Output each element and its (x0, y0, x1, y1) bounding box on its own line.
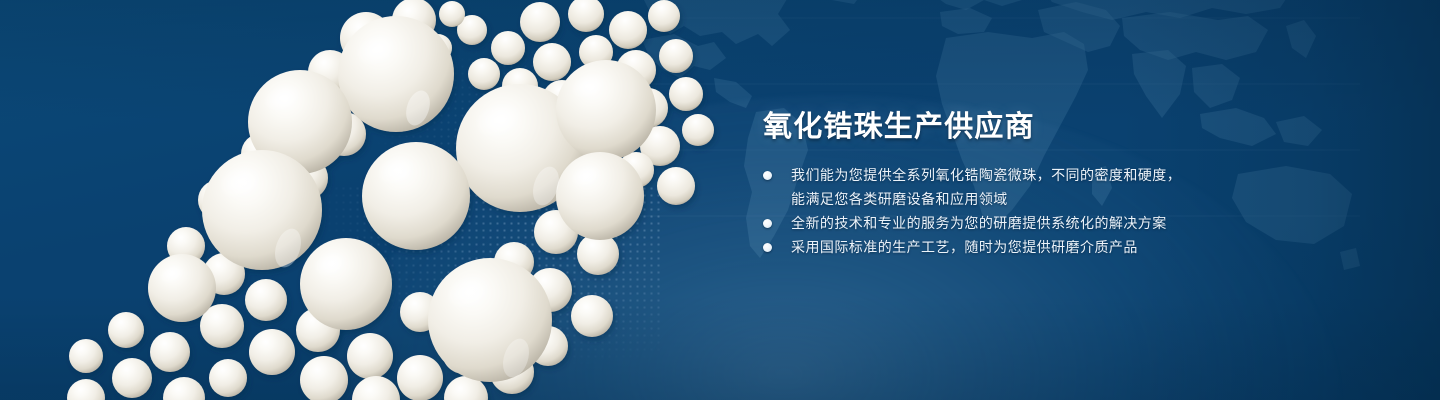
bullet-dot-icon (763, 219, 772, 228)
bullet-text-line-1: 采用国际标准的生产工艺，随时为您提供研磨介质产品 (791, 239, 1138, 255)
bullet-dot-icon (763, 243, 772, 252)
banner-copy: 氧化锆珠生产供应商 我们能为您提供全系列氧化锆陶瓷微珠，不同的密度和硬度， 能满… (763, 110, 1283, 259)
hero-banner: 氧化锆珠生产供应商 我们能为您提供全系列氧化锆陶瓷微珠，不同的密度和硬度， 能满… (0, 0, 1440, 400)
list-item: 采用国际标准的生产工艺，随时为您提供研磨介质产品 (763, 235, 1283, 259)
bullet-text-line-1: 我们能为您提供全系列氧化锆陶瓷微珠，不同的密度和硬度， (791, 167, 1181, 183)
list-item: 我们能为您提供全系列氧化锆陶瓷微珠，不同的密度和硬度， 能满足您各类研磨设备和应… (763, 163, 1283, 211)
zirconia-beads-photo (0, 0, 760, 400)
bullet-text-line-1: 全新的技术和专业的服务为您的研磨提供系统化的解决方案 (791, 215, 1167, 231)
banner-headline: 氧化锆珠生产供应商 (763, 110, 1283, 144)
banner-bullet-list: 我们能为您提供全系列氧化锆陶瓷微珠，不同的密度和硬度， 能满足您各类研磨设备和应… (763, 163, 1283, 259)
list-item: 全新的技术和专业的服务为您的研磨提供系统化的解决方案 (763, 211, 1283, 235)
bullet-dot-icon (763, 171, 772, 180)
bullet-text-line-2: 能满足您各类研磨设备和应用领域 (791, 187, 1283, 211)
